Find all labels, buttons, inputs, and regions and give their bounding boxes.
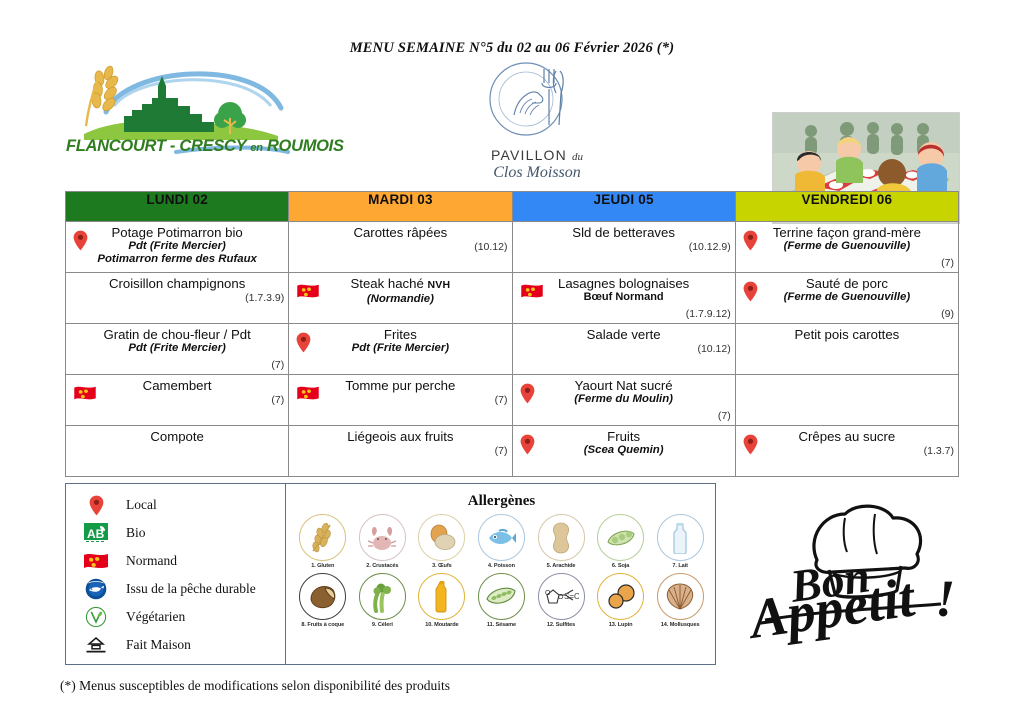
allergen-item: 8. Fruits à coque: [294, 573, 351, 628]
allergen-item: OOS=O12. Sulfites: [533, 573, 590, 628]
menu-cell[interactable]: Croisillon champignons(1.7.3.9): [66, 273, 289, 324]
celery-icon: [359, 573, 406, 620]
menu-cell[interactable]: Camembert(7): [66, 375, 289, 426]
dish-name: Tomme pur perche: [293, 378, 507, 393]
bon-appetit-logo: Bon Appetit !: [745, 498, 965, 663]
dish-name: Lasagnes bolognaises: [517, 276, 731, 291]
legend-item-normand: Normand: [66, 547, 285, 575]
menu-cell[interactable]: [735, 375, 958, 426]
dish-name: Yaourt Nat sucré: [517, 378, 731, 393]
dish-name: Croisillon champignons: [70, 276, 284, 291]
crab-icon: [359, 514, 406, 561]
pavillon-logo-name: PAVILLON du: [462, 147, 612, 163]
menu-cell[interactable]: Liégeois aux fruits(7): [289, 426, 512, 477]
normandy-flag-icon: [296, 283, 320, 305]
dish-origin: Pdt (Frite Mercier): [70, 342, 284, 355]
dish-origin: Pdt (Frite Mercier): [70, 240, 284, 253]
allergen-codes: (7): [495, 394, 508, 406]
footnote: (*) Menus susceptibles de modifications …: [60, 678, 450, 694]
dish-origin: Pdt (Frite Mercier): [293, 342, 507, 355]
legend-label: Normand: [126, 553, 177, 569]
allergen-label: 12. Sulfites: [533, 622, 590, 628]
menu-row: Camembert(7)Tomme pur perche(7)Yaourt Na…: [66, 375, 959, 426]
map-pin-icon: [73, 230, 88, 256]
menu-cell[interactable]: Carottes râpées(10.12): [289, 222, 512, 273]
menu-table: LUNDI 02 MARDI 03 JEUDI 05 VENDREDI 06 P…: [65, 191, 959, 477]
allergen-label: 2. Crustacés: [354, 563, 411, 569]
menu-row: Potage Potimarron bioPdt (Frite Mercier)…: [66, 222, 959, 273]
allergen-label: 1. Gluten: [294, 563, 351, 569]
dish-name: Compote: [70, 429, 284, 444]
menu-row: CompoteLiégeois aux fruits(7)Fruits(Scea…: [66, 426, 959, 477]
allergen-item: 2. Crustacés: [354, 514, 411, 569]
allergens-title: Allergènes: [287, 493, 716, 510]
allergen-codes: (10.12.9): [689, 241, 731, 253]
menu-table-body: Potage Potimarron bioPdt (Frite Mercier)…: [66, 222, 959, 477]
allergen-label: 14. Mollusques: [652, 622, 709, 628]
pavillon-logo: PAVILLON du Clos Moisson: [462, 59, 612, 183]
menu-table-header-row: LUNDI 02 MARDI 03 JEUDI 05 VENDREDI 06: [66, 192, 959, 222]
menu-cell[interactable]: Petit pois carottes: [735, 324, 958, 375]
allergens-panel: Allergènes 1. Gluten2. Crustacés3. Œufs4…: [287, 484, 716, 664]
menu-cell[interactable]: Yaourt Nat sucré(Ferme du Moulin)(7): [512, 375, 735, 426]
dish-origin: (Ferme de Guenouville): [740, 291, 954, 304]
allergen-codes: (10.12): [474, 241, 507, 253]
column-header-vendredi: VENDREDI 06: [735, 192, 958, 222]
column-header-jeudi: JEUDI 05: [512, 192, 735, 222]
fish-icon: [478, 514, 525, 561]
nuts-icon: [299, 573, 346, 620]
menu-row: Gratin de chou-fleur / PdtPdt (Frite Mer…: [66, 324, 959, 375]
menu-cell[interactable]: Compote: [66, 426, 289, 477]
allergen-item: 4. Poisson: [473, 514, 530, 569]
sesame-icon: [478, 573, 525, 620]
menu-cell[interactable]: Salade verte(10.12): [512, 324, 735, 375]
normandy-flag-icon: [73, 385, 97, 407]
dish-name: Frites: [293, 327, 507, 342]
allergen-item: 5. Arachide: [533, 514, 590, 569]
dish-name: Sauté de porc: [740, 276, 954, 291]
menu-cell[interactable]: Potage Potimarron bioPdt (Frite Mercier)…: [66, 222, 289, 273]
dish-name: Salade verte: [517, 327, 731, 342]
dish-name: Gratin de chou-fleur / Pdt: [70, 327, 284, 342]
dish-name: Liégeois aux fruits: [293, 429, 507, 444]
allergen-codes: (1.3.7): [924, 445, 954, 457]
menu-cell[interactable]: Gratin de chou-fleur / PdtPdt (Frite Mer…: [66, 324, 289, 375]
allergen-item: 6. Soja: [592, 514, 649, 569]
menu-cell[interactable]: Terrine façon grand-mère(Ferme de Guenou…: [735, 222, 958, 273]
bon-appetit-exclamation: !: [935, 571, 955, 628]
dish-name: Potage Potimarron bio: [70, 225, 284, 240]
column-header-lundi: LUNDI 02: [66, 192, 289, 222]
allergens-row-1: 1. Gluten2. Crustacés3. Œufs4. Poisson5.…: [287, 514, 716, 569]
legend-item-local: Local: [66, 491, 285, 519]
normandy-flag-icon: [296, 385, 320, 407]
allergen-codes: (7): [941, 257, 954, 269]
map-pin-icon: [520, 434, 535, 460]
allergen-codes: (7): [271, 394, 284, 406]
legend-panel: Local AB Bio Normand Issu de la pêche du…: [66, 484, 286, 664]
dish-tag: NVH: [427, 279, 450, 291]
allergen-item: 9. Céleri: [354, 573, 411, 628]
dish-name: Petit pois carottes: [740, 327, 954, 342]
allergen-label: 6. Soja: [592, 563, 649, 569]
menu-cell[interactable]: Crêpes au sucre(1.3.7): [735, 426, 958, 477]
allergen-codes: (7): [495, 445, 508, 457]
legend-label: Végétarien: [126, 609, 185, 625]
dish-name: Camembert: [70, 378, 284, 393]
menu-cell[interactable]: Steak haché NVH(Normandie): [289, 273, 512, 324]
allergen-label: 4. Poisson: [473, 563, 530, 569]
allergen-label: 8. Fruits à coque: [294, 622, 351, 628]
allergen-label: 5. Arachide: [533, 563, 590, 569]
peanut-icon: [538, 514, 585, 561]
pavillon-logo-graphic: [462, 59, 612, 145]
dish-name: Fruits: [517, 429, 731, 444]
allergen-codes: (10.12): [697, 343, 730, 355]
ab-bio-icon: AB: [78, 523, 114, 543]
eggs-icon: [418, 514, 465, 561]
allergen-label: 11. Sésame: [473, 622, 530, 628]
milk-bottle-icon: [657, 514, 704, 561]
menu-row: Croisillon champignons(1.7.3.9)Steak hac…: [66, 273, 959, 324]
legend-allergens-box: Local AB Bio Normand Issu de la pêche du…: [65, 483, 716, 665]
column-header-mardi: MARDI 03: [289, 192, 512, 222]
menu-cell[interactable]: Tomme pur perche(7): [289, 375, 512, 426]
homemade-icon: [78, 635, 114, 655]
lupin-icon: [597, 573, 644, 620]
header-band: FLANCOURT - CRESCY en ROUMOIS PAVI: [0, 55, 1024, 185]
mustard-bottle-icon: [418, 573, 465, 620]
menu-cell[interactable]: Lasagnes bolognaisesBœuf Normand(1.7.9.1…: [512, 273, 735, 324]
allergen-label: 9. Céleri: [354, 622, 411, 628]
legend-item-peche-durable: Issu de la pêche durable: [66, 575, 285, 603]
allergen-label: 7. Lait: [652, 563, 709, 569]
allergen-item: 14. Mollusques: [652, 573, 709, 628]
allergen-label: 10. Moutarde: [413, 622, 470, 628]
legend-label: Local: [126, 497, 157, 513]
legend-item-vegetarien: Végétarien: [66, 603, 285, 631]
allergen-item: 10. Moutarde: [413, 573, 470, 628]
allergen-codes: (1.7.3.9): [245, 292, 284, 304]
map-pin-icon: [78, 495, 114, 516]
allergen-label: 3. Œufs: [413, 563, 470, 569]
legend-label: Bio: [126, 525, 146, 541]
dish-origin: (Ferme du Moulin): [517, 393, 731, 406]
allergen-item: 11. Sésame: [473, 573, 530, 628]
dish-name: Carottes râpées: [293, 225, 507, 240]
map-pin-icon: [743, 281, 758, 307]
dish-name: Terrine façon grand-mère: [740, 225, 954, 240]
normandy-flag-icon: [520, 283, 544, 305]
legend-item-bio: AB Bio: [66, 519, 285, 547]
legend-label: Issu de la pêche durable: [126, 581, 256, 597]
dish-origin: (Ferme de Guenouville): [740, 240, 954, 253]
map-pin-icon: [743, 434, 758, 460]
allergen-codes: (1.7.9.12): [686, 308, 731, 320]
commune-logo-wordmark: FLANCOURT - CRESCY en ROUMOIS: [66, 137, 302, 156]
dish-origin: Bœuf Normand: [517, 291, 731, 304]
dish-name: Sld de betteraves: [517, 225, 731, 240]
svg-text:O: O: [545, 590, 551, 597]
allergen-item: 7. Lait: [652, 514, 709, 569]
dish-name: Steak haché NVH: [293, 276, 507, 293]
allergen-codes: (7): [718, 410, 731, 422]
legend-label: Fait Maison: [126, 637, 191, 653]
map-pin-icon: [743, 230, 758, 256]
wheat-icon: [299, 514, 346, 561]
sulfite-molecule-icon: OOS=O: [538, 573, 585, 620]
menu-cell[interactable]: Fruits(Scea Quemin): [512, 426, 735, 477]
pavillon-logo-subtitle: Clos Moisson: [462, 164, 612, 182]
dish-origin: (Normandie): [293, 293, 507, 306]
allergens-row-2: 8. Fruits à coque9. Céleri10. Moutarde11…: [287, 573, 716, 628]
shell-icon: [657, 573, 704, 620]
allergen-item: 3. Œufs: [413, 514, 470, 569]
allergen-codes: (7): [271, 359, 284, 371]
commune-logo: FLANCOURT - CRESCY en ROUMOIS: [66, 60, 302, 170]
menu-cell[interactable]: Sauté de porc(Ferme de Guenouville)(9): [735, 273, 958, 324]
allergen-item: 13. Lupin: [592, 573, 649, 628]
sustainable-fishing-icon: [78, 578, 114, 600]
dish-name: Crêpes au sucre: [740, 429, 954, 444]
vegetarian-icon: [78, 606, 114, 628]
allergen-label: 13. Lupin: [592, 622, 649, 628]
dish-origin-2: Potimarron ferme des Rufaux: [70, 253, 284, 266]
soy-icon: [597, 514, 644, 561]
menu-cell[interactable]: Sld de betteraves(10.12.9): [512, 222, 735, 273]
bon-appetit-graphic: Bon Appetit !: [745, 498, 965, 663]
dish-origin: (Scea Quemin): [517, 444, 731, 457]
map-pin-icon: [296, 332, 311, 358]
allergen-item: 1. Gluten: [294, 514, 351, 569]
legend-item-fait-maison: Fait Maison: [66, 631, 285, 659]
map-pin-icon: [520, 383, 535, 409]
menu-cell[interactable]: FritesPdt (Frite Mercier): [289, 324, 512, 375]
svg-text:S=O: S=O: [564, 592, 579, 601]
normandy-flag-icon: [78, 552, 114, 571]
allergen-codes: (9): [941, 308, 954, 320]
